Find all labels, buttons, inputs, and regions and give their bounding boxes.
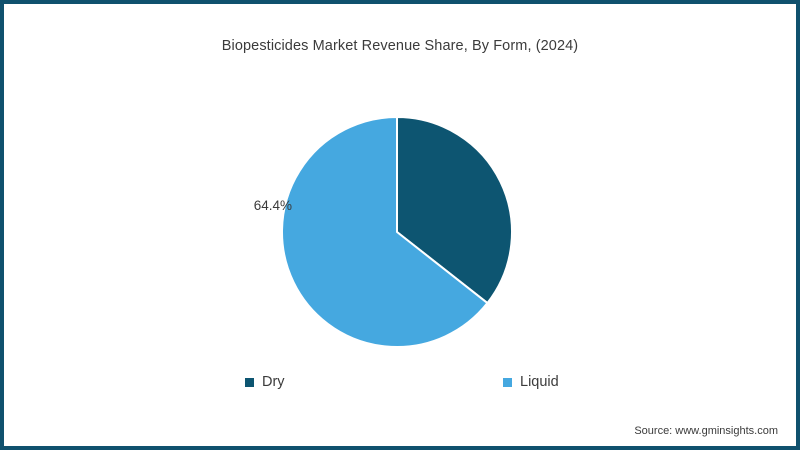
legend-label-dry: Dry xyxy=(262,375,285,390)
chart-canvas: Biopesticides Market Revenue Share, By F… xyxy=(0,0,800,450)
legend-swatch-dry-icon xyxy=(245,378,254,387)
legend-item-dry[interactable]: Dry xyxy=(245,371,285,393)
pie-slice-label-liquid: 64.4% xyxy=(212,198,292,213)
source-note: Source: www.gminsights.com xyxy=(634,425,778,437)
legend-label-liquid: Liquid xyxy=(520,375,559,390)
chart-legend: Dry Liquid xyxy=(0,371,800,395)
legend-item-liquid[interactable]: Liquid xyxy=(503,371,559,393)
pie-slices xyxy=(282,117,512,347)
legend-swatch-liquid-icon xyxy=(503,378,512,387)
